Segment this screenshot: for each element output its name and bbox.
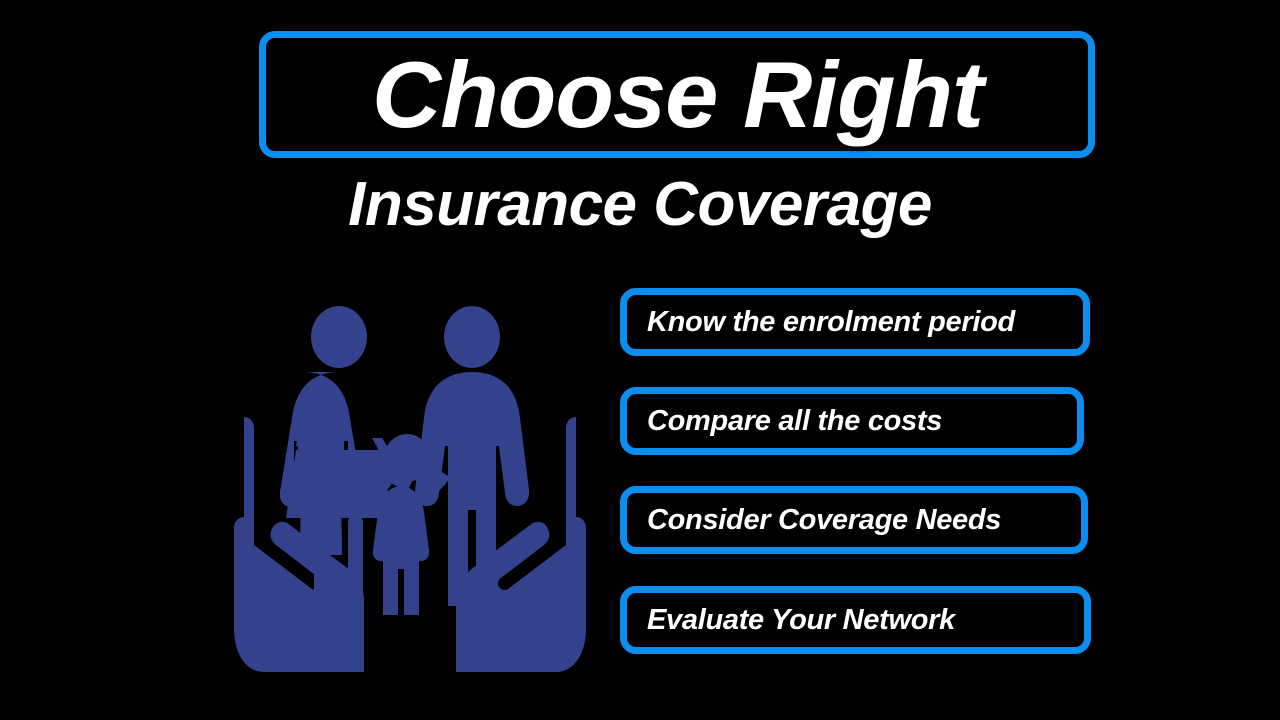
tip-item-label: Evaluate Your Network (647, 604, 955, 637)
tip-item-2[interactable]: Compare all the costs (620, 387, 1084, 455)
tip-item-label: Consider Coverage Needs (647, 504, 1001, 537)
tip-item-label: Know the enrolment period (647, 306, 1015, 339)
tip-item-label: Compare all the costs (647, 405, 942, 438)
page-subtitle: Insurance Coverage (0, 172, 1280, 237)
tip-item-3[interactable]: Consider Coverage Needs (620, 486, 1088, 554)
tip-item-4[interactable]: Evaluate Your Network (620, 586, 1091, 654)
family-in-hands-icon (222, 300, 598, 672)
tips-list: Know the enrolment period Compare all th… (620, 288, 1095, 658)
title-box: Choose Right (259, 31, 1095, 158)
tip-item-1[interactable]: Know the enrolment period (620, 288, 1090, 356)
slide-canvas: Choose Right Insurance Coverage (0, 0, 1280, 720)
page-title: Choose Right (372, 48, 983, 142)
